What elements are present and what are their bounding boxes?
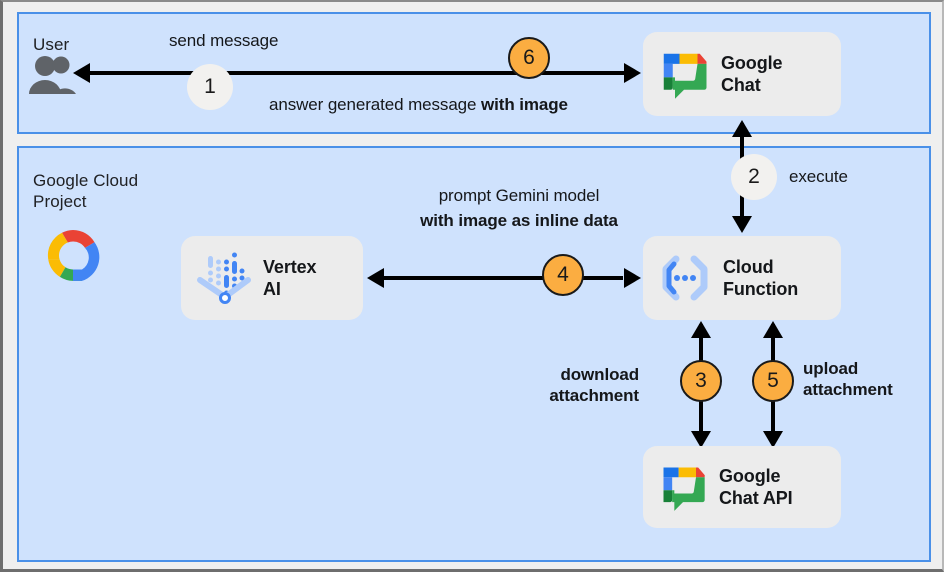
caption-answer-plain: answer generated message	[269, 95, 481, 114]
caption-prompt-inline-data: with image as inline data	[397, 210, 641, 231]
node-cloud-function-label: Cloud Function	[723, 256, 798, 300]
arrow-vertex-function-head-right	[624, 268, 641, 288]
node-google-chat-api-label: Google Chat API	[719, 465, 793, 509]
google-cloud-logo	[39, 226, 107, 286]
arrow-user-chat-head-right	[624, 63, 641, 83]
node-vertex-ai[interactable]: Vertex AI	[181, 236, 363, 320]
vertex-ai-icon	[195, 249, 253, 307]
diagram-canvas: User 1 6 send message answer generated m…	[0, 0, 944, 572]
arrow-upload-head-up	[763, 321, 783, 338]
google-chat-icon	[657, 461, 709, 513]
caption-answer-bold: with image	[481, 95, 568, 114]
node-google-chat[interactable]: Google Chat	[643, 32, 841, 116]
panel-user-title: User	[33, 34, 69, 55]
arrow-user-chat-head-left	[73, 63, 90, 83]
node-google-chat-label: Google Chat	[721, 52, 782, 96]
panel-gcp-title: Google Cloud Project	[33, 170, 138, 212]
step-badge-1: 1	[187, 64, 233, 110]
arrow-user-chat-line	[87, 71, 637, 75]
caption-execute: execute	[789, 166, 848, 187]
users-icon	[27, 54, 77, 98]
step-badge-2: 2	[731, 154, 777, 200]
node-vertex-ai-label: Vertex AI	[263, 256, 316, 300]
arrow-download-head-up	[691, 321, 711, 338]
caption-send-message: send message	[169, 30, 278, 51]
caption-download-attachment: download attachment	[473, 364, 639, 406]
arrow-execute-head-up	[732, 120, 752, 137]
arrow-vertex-function-head-left	[367, 268, 384, 288]
step-badge-6: 6	[508, 37, 550, 79]
cloud-function-icon	[657, 250, 713, 306]
node-cloud-function[interactable]: Cloud Function	[643, 236, 841, 320]
caption-answer-generated: answer generated message with image	[269, 94, 568, 115]
google-chat-icon	[657, 47, 711, 101]
step-badge-3: 3	[680, 360, 722, 402]
caption-prompt-gemini: prompt Gemini model	[407, 185, 631, 206]
caption-upload-attachment: upload attachment	[803, 358, 944, 400]
step-badge-4: 4	[542, 254, 584, 296]
step-badge-5: 5	[752, 360, 794, 402]
arrow-vertex-function-line	[381, 276, 623, 280]
node-google-chat-api[interactable]: Google Chat API	[643, 446, 841, 528]
arrow-execute-head-down	[732, 216, 752, 233]
